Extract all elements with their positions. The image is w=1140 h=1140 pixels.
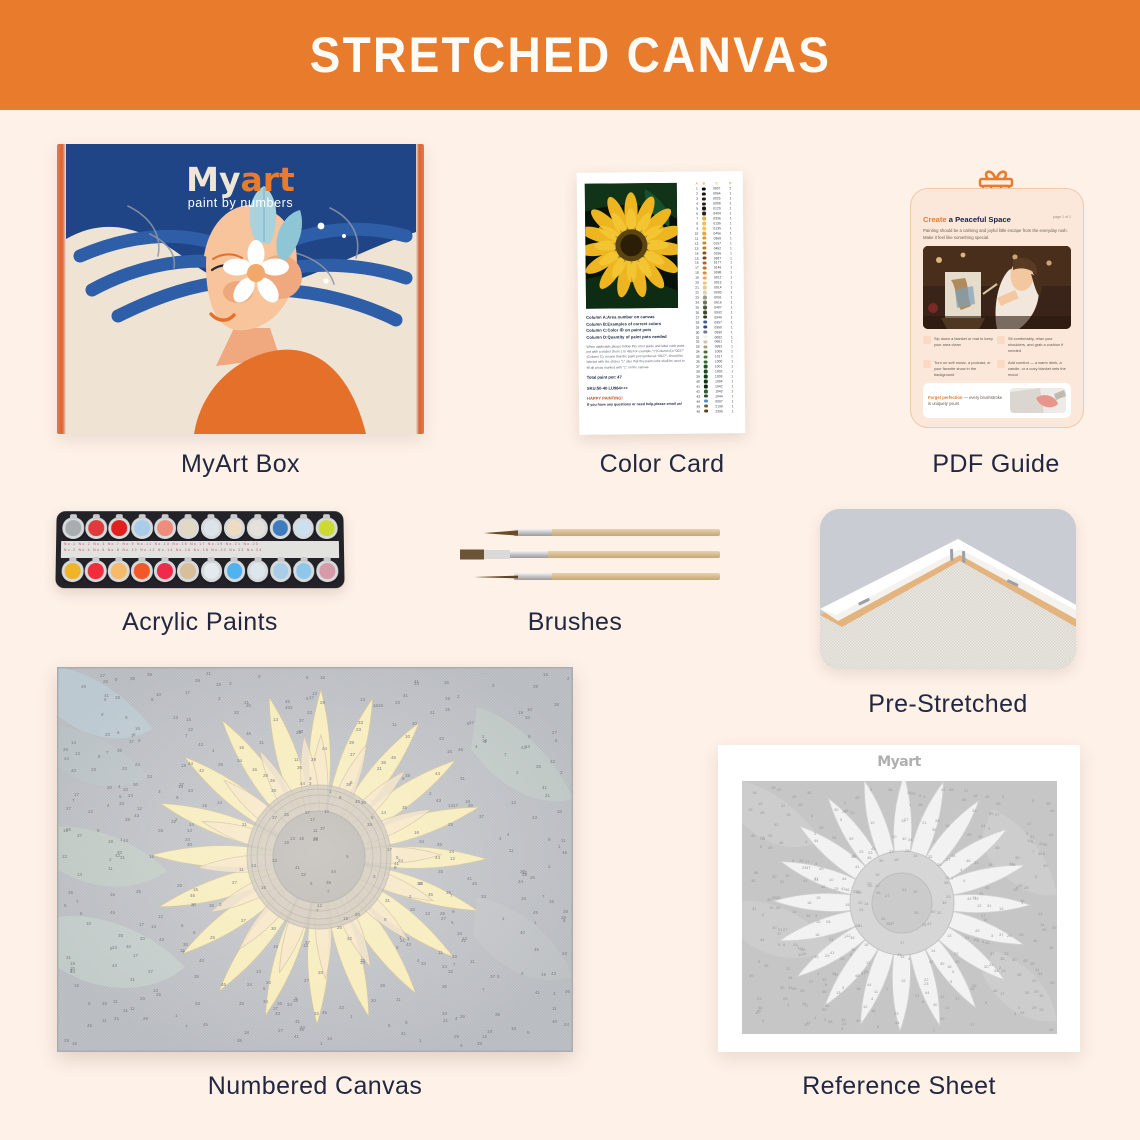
svg-text:46: 46 — [458, 747, 464, 752]
svg-text:37: 37 — [806, 865, 811, 870]
svg-text:29: 29 — [1043, 863, 1048, 868]
svg-text:20: 20 — [857, 890, 862, 895]
svg-text:29: 29 — [143, 1016, 149, 1021]
svg-text:17: 17 — [309, 695, 315, 700]
svg-text:35: 35 — [841, 1017, 846, 1022]
svg-text:19: 19 — [518, 710, 524, 715]
svg-text:46: 46 — [855, 973, 860, 978]
svg-text:25: 25 — [156, 992, 162, 997]
svg-text:39: 39 — [522, 872, 528, 877]
svg-text:35: 35 — [194, 974, 200, 979]
svg-text:38: 38 — [118, 933, 124, 938]
svg-text:19: 19 — [521, 896, 527, 901]
color-card-fineprint: When applicable,please follow this color… — [586, 343, 684, 371]
svg-text:34: 34 — [988, 862, 993, 867]
svg-text:11: 11 — [470, 959, 475, 964]
svg-text:17: 17 — [74, 792, 80, 797]
svg-text:41: 41 — [403, 693, 409, 698]
svg-text:38: 38 — [970, 986, 975, 991]
svg-text:23: 23 — [859, 849, 864, 854]
svg-text:23: 23 — [91, 767, 97, 772]
svg-text:39: 39 — [913, 889, 918, 894]
svg-text:16: 16 — [871, 1008, 876, 1013]
pdf-guide-tip: Sit comfortably, relax your shoulders, a… — [997, 336, 1071, 354]
svg-text:33: 33 — [439, 736, 445, 741]
svg-text:10: 10 — [405, 734, 411, 739]
svg-text:30: 30 — [468, 803, 474, 808]
svg-text:29: 29 — [64, 1038, 70, 1043]
svg-text:22: 22 — [307, 710, 313, 715]
svg-text:15: 15 — [186, 717, 192, 722]
svg-text:32: 32 — [301, 872, 307, 877]
svg-text:39: 39 — [850, 935, 855, 940]
svg-text:40: 40 — [1050, 808, 1055, 813]
svg-text:28: 28 — [828, 1019, 833, 1024]
svg-text:40: 40 — [1039, 841, 1044, 846]
svg-text:33: 33 — [481, 894, 487, 899]
svg-text:13: 13 — [290, 836, 296, 841]
svg-text:13: 13 — [273, 717, 279, 722]
tip-icon — [997, 360, 1005, 368]
svg-text:31: 31 — [460, 776, 466, 781]
svg-text:38: 38 — [237, 1038, 243, 1043]
svg-text:44: 44 — [842, 876, 847, 881]
svg-text:35: 35 — [779, 840, 784, 845]
svg-text:14: 14 — [151, 924, 157, 929]
svg-text:12: 12 — [317, 903, 323, 908]
brush-liner — [452, 573, 720, 580]
color-card-image: Column A:Area number on canvas Column B:… — [577, 171, 746, 435]
svg-text:43: 43 — [975, 928, 980, 933]
svg-text:23: 23 — [757, 996, 762, 1001]
myart-box-image: Myart paint by numbers — [57, 144, 424, 434]
paint-strip-labels-bottom: No.2 No.4 No.6 No.8 No.10 No.12 No.14 No… — [61, 547, 339, 553]
svg-text:39: 39 — [125, 817, 131, 822]
svg-text:46: 46 — [391, 755, 397, 760]
svg-text:44: 44 — [760, 937, 765, 942]
svg-text:18: 18 — [973, 793, 978, 798]
svg-text:27: 27 — [441, 916, 447, 921]
svg-text:26: 26 — [530, 875, 536, 880]
svg-text:36: 36 — [932, 827, 937, 832]
svg-text:35: 35 — [776, 905, 781, 910]
svg-text:45: 45 — [87, 1023, 93, 1028]
brushes-image — [430, 525, 720, 593]
svg-text:24: 24 — [802, 865, 807, 870]
svg-text:43: 43 — [406, 942, 412, 947]
pre-stretched-image — [820, 509, 1076, 669]
svg-text:44: 44 — [895, 1020, 900, 1025]
svg-text:25: 25 — [800, 988, 805, 993]
svg-text:28: 28 — [935, 818, 940, 823]
tip-text: Sit comfortably, relax your shoulders, a… — [1008, 336, 1067, 354]
svg-text:28: 28 — [102, 1001, 108, 1006]
svg-text:15: 15 — [543, 672, 549, 677]
svg-text:17: 17 — [970, 1022, 975, 1027]
svg-text:25: 25 — [284, 812, 290, 817]
svg-text:28: 28 — [1019, 932, 1024, 937]
svg-text:43: 43 — [159, 937, 165, 942]
svg-text:21: 21 — [443, 1018, 449, 1023]
svg-text:37: 37 — [479, 814, 485, 819]
svg-text:28: 28 — [216, 682, 222, 687]
pdf-guide-photo — [923, 246, 1071, 329]
svg-text:46: 46 — [876, 890, 881, 895]
svg-text:27: 27 — [148, 969, 154, 974]
svg-text:20: 20 — [978, 834, 983, 839]
reference-sheet-logo: Myart — [718, 745, 1080, 770]
svg-text:15: 15 — [840, 956, 845, 961]
svg-text:24: 24 — [832, 835, 837, 840]
svg-text:44: 44 — [925, 990, 930, 995]
paint-pot — [316, 560, 338, 582]
svg-text:26: 26 — [907, 790, 912, 795]
svg-text:20: 20 — [777, 787, 782, 792]
svg-text:10: 10 — [324, 809, 330, 814]
svg-text:29: 29 — [177, 883, 183, 888]
svg-text:25: 25 — [448, 822, 454, 827]
svg-text:28: 28 — [380, 983, 386, 988]
box-tagline: paint by numbers — [57, 196, 424, 210]
svg-text:17: 17 — [777, 931, 782, 936]
svg-text:15: 15 — [748, 807, 753, 812]
svg-text:19: 19 — [541, 972, 547, 977]
svg-text:16: 16 — [972, 895, 977, 900]
svg-text:16: 16 — [299, 1027, 305, 1032]
svg-text:11: 11 — [102, 1018, 107, 1023]
svg-text:21: 21 — [915, 993, 920, 998]
svg-text:11: 11 — [294, 757, 299, 762]
svg-text:24: 24 — [829, 937, 834, 942]
svg-text:19: 19 — [378, 703, 384, 708]
svg-text:13: 13 — [251, 863, 257, 868]
svg-text:37: 37 — [814, 876, 819, 881]
svg-text:32: 32 — [781, 803, 786, 808]
svg-text:28: 28 — [263, 773, 269, 778]
svg-text:19: 19 — [273, 944, 279, 949]
svg-text:33: 33 — [889, 849, 894, 854]
svg-text:41: 41 — [852, 853, 857, 858]
svg-text:27: 27 — [995, 812, 1000, 817]
svg-text:43: 43 — [436, 798, 442, 803]
svg-text:30: 30 — [183, 942, 189, 947]
svg-text:40: 40 — [412, 721, 418, 726]
svg-text:43: 43 — [198, 742, 204, 747]
svg-text:19: 19 — [487, 1029, 493, 1034]
svg-text:27: 27 — [232, 880, 238, 885]
svg-text:25: 25 — [772, 895, 777, 900]
svg-text:24: 24 — [859, 907, 864, 912]
svg-text:15: 15 — [74, 983, 80, 988]
tip-text: Sip down a blanket or mat to keep your a… — [934, 336, 993, 354]
pdf-page-number: page 1 of 1 — [1053, 215, 1071, 219]
svg-text:17: 17 — [453, 803, 459, 808]
svg-text:39: 39 — [1015, 855, 1020, 860]
svg-text:41: 41 — [803, 878, 808, 883]
svg-text:41: 41 — [294, 1034, 300, 1039]
svg-text:16: 16 — [320, 675, 326, 680]
paint-pot — [85, 517, 107, 538]
svg-text:26: 26 — [460, 1014, 466, 1019]
svg-text:16: 16 — [802, 951, 807, 956]
paint-pot — [154, 560, 176, 582]
svg-text:39: 39 — [147, 672, 153, 677]
tip-icon — [923, 360, 931, 368]
svg-text:20: 20 — [842, 809, 847, 814]
svg-text:16: 16 — [894, 857, 899, 862]
svg-text:24: 24 — [442, 964, 448, 969]
svg-text:23: 23 — [356, 727, 362, 732]
svg-text:15: 15 — [875, 872, 880, 877]
box-logo: Myart paint by numbers — [57, 160, 424, 210]
svg-text:16: 16 — [239, 745, 245, 750]
svg-text:20: 20 — [246, 703, 252, 708]
column-d-desc: Column D:Quantity of paint pots needed — [586, 334, 684, 342]
svg-text:45: 45 — [110, 910, 116, 915]
svg-text:33: 33 — [195, 1001, 201, 1006]
svg-text:19: 19 — [445, 696, 451, 701]
svg-text:41: 41 — [841, 886, 846, 891]
svg-text:14: 14 — [931, 948, 936, 953]
svg-text:14: 14 — [360, 960, 366, 965]
svg-text:28: 28 — [771, 785, 776, 790]
svg-text:46: 46 — [190, 893, 196, 898]
svg-text:23: 23 — [414, 681, 420, 686]
svg-text:24: 24 — [518, 879, 524, 884]
label-acrylic-paints: Acrylic Paints — [56, 608, 344, 637]
svg-text:41: 41 — [788, 985, 793, 990]
svg-text:42: 42 — [550, 759, 556, 764]
svg-text:30: 30 — [187, 842, 193, 847]
svg-text:35: 35 — [402, 805, 408, 810]
svg-text:17: 17 — [469, 720, 475, 725]
svg-text:45: 45 — [760, 810, 765, 815]
paint-pot — [154, 517, 176, 538]
svg-text:16: 16 — [856, 986, 861, 991]
svg-text:25: 25 — [210, 935, 216, 940]
svg-text:22: 22 — [88, 809, 94, 814]
tip-icon — [997, 336, 1005, 344]
svg-text:26: 26 — [313, 837, 319, 842]
svg-text:12: 12 — [511, 800, 517, 805]
svg-text:39: 39 — [563, 909, 569, 914]
svg-text:18: 18 — [244, 1030, 250, 1035]
svg-text:20: 20 — [318, 970, 324, 975]
svg-text:38: 38 — [405, 773, 411, 778]
svg-text:13: 13 — [425, 911, 431, 916]
svg-text:43: 43 — [927, 921, 932, 926]
svg-text:46: 46 — [285, 705, 291, 710]
svg-text:12: 12 — [977, 903, 982, 908]
svg-text:28: 28 — [320, 700, 326, 705]
svg-text:44: 44 — [322, 746, 328, 751]
svg-text:30: 30 — [772, 925, 777, 930]
label-color-card: Color Card — [540, 450, 784, 479]
svg-text:41: 41 — [104, 693, 110, 698]
paint-pot — [247, 560, 269, 582]
svg-text:38: 38 — [554, 702, 560, 707]
svg-text:31: 31 — [259, 740, 265, 745]
paint-pot — [108, 560, 130, 582]
svg-text:30: 30 — [772, 874, 777, 879]
svg-text:14: 14 — [792, 909, 797, 914]
svg-text:32: 32 — [347, 936, 353, 941]
svg-text:40: 40 — [71, 768, 77, 773]
sku-text: SKU:50-40 LU964+++ — [587, 385, 685, 393]
svg-text:40: 40 — [856, 1018, 861, 1023]
svg-text:30: 30 — [751, 878, 756, 883]
svg-text:22: 22 — [858, 900, 863, 905]
svg-text:46: 46 — [867, 855, 872, 860]
svg-text:35: 35 — [536, 764, 542, 769]
svg-text:45: 45 — [949, 787, 954, 792]
svg-text:34: 34 — [908, 837, 913, 842]
svg-text:40: 40 — [520, 930, 526, 935]
svg-text:35: 35 — [942, 900, 947, 905]
svg-text:44: 44 — [814, 838, 819, 843]
svg-text:43: 43 — [112, 963, 118, 968]
paint-pot — [61, 560, 83, 582]
svg-text:44: 44 — [300, 781, 306, 786]
pdf-footer-accent: Forget perfection — [928, 395, 962, 400]
svg-text:12: 12 — [158, 914, 164, 919]
svg-text:13: 13 — [173, 715, 179, 720]
svg-text:17: 17 — [133, 953, 139, 958]
svg-text:38: 38 — [944, 880, 949, 885]
label-brushes: Brushes — [430, 608, 720, 637]
svg-text:26: 26 — [1007, 933, 1012, 938]
svg-text:37: 37 — [990, 951, 995, 956]
svg-text:14: 14 — [761, 836, 766, 841]
paint-pot — [293, 517, 315, 538]
svg-text:36: 36 — [297, 765, 303, 770]
svg-text:25: 25 — [799, 858, 804, 863]
svg-text:46: 46 — [246, 731, 252, 736]
pdf-title-accent: Create — [923, 215, 947, 224]
svg-text:42: 42 — [929, 959, 934, 964]
svg-text:45: 45 — [768, 845, 773, 850]
svg-text:36: 36 — [845, 887, 850, 892]
svg-text:46: 46 — [751, 833, 756, 838]
svg-text:35: 35 — [989, 811, 994, 816]
svg-text:38: 38 — [326, 880, 332, 885]
svg-text:11: 11 — [552, 1006, 557, 1011]
svg-text:12: 12 — [866, 960, 871, 965]
svg-text:39: 39 — [940, 1016, 945, 1021]
svg-text:41: 41 — [830, 950, 835, 955]
paint-pot — [177, 560, 199, 582]
svg-text:30: 30 — [834, 807, 839, 812]
contact-text: If you have any questions or need help,p… — [587, 402, 685, 407]
color-card-table-row: 4623951 — [691, 408, 739, 413]
paint-pot — [108, 517, 130, 538]
reference-sheet-image: Myart — [718, 745, 1080, 1052]
svg-text:44: 44 — [981, 823, 986, 828]
svg-text:17: 17 — [1000, 991, 1005, 996]
svg-text:37: 37 — [77, 833, 83, 838]
svg-text:44: 44 — [951, 853, 956, 858]
svg-text:28: 28 — [1020, 1010, 1025, 1015]
svg-text:27: 27 — [552, 730, 558, 735]
svg-text:38: 38 — [995, 845, 1000, 850]
svg-text:31: 31 — [858, 923, 863, 928]
numbered-canvas-image: 6242836238945442681181711113511330213913… — [57, 667, 573, 1052]
svg-text:26: 26 — [209, 903, 215, 908]
svg-text:15: 15 — [63, 828, 69, 833]
svg-text:13: 13 — [525, 744, 531, 749]
svg-text:15: 15 — [764, 963, 769, 968]
svg-text:33: 33 — [525, 715, 531, 720]
svg-text:29: 29 — [454, 1034, 460, 1039]
svg-text:45: 45 — [428, 892, 434, 897]
pdf-guide-tips: Sip down a blanket or mat to keep your a… — [923, 336, 1071, 383]
svg-text:27: 27 — [66, 806, 72, 811]
svg-text:11: 11 — [239, 867, 244, 872]
svg-text:17: 17 — [900, 940, 905, 945]
svg-text:25: 25 — [853, 889, 858, 894]
svg-text:15: 15 — [180, 948, 186, 953]
svg-text:25: 25 — [780, 985, 785, 990]
svg-text:28: 28 — [967, 832, 972, 837]
svg-text:35: 35 — [130, 676, 136, 681]
svg-text:15: 15 — [900, 954, 905, 959]
svg-text:22: 22 — [339, 1005, 345, 1010]
svg-text:33: 33 — [358, 720, 364, 725]
svg-text:14: 14 — [448, 803, 454, 808]
svg-text:29: 29 — [768, 833, 773, 838]
svg-text:12: 12 — [875, 883, 880, 888]
sunflower-photo — [585, 183, 678, 309]
svg-text:44: 44 — [758, 1005, 763, 1010]
logo-art-text: art — [241, 160, 295, 199]
svg-text:11: 11 — [113, 999, 118, 1004]
svg-text:41: 41 — [401, 1031, 407, 1036]
svg-text:14: 14 — [945, 1005, 950, 1010]
svg-text:10: 10 — [156, 692, 162, 697]
svg-text:36: 36 — [1049, 945, 1054, 950]
svg-text:25: 25 — [1024, 885, 1029, 890]
svg-text:11: 11 — [108, 866, 113, 871]
svg-text:29: 29 — [825, 953, 830, 958]
svg-text:28: 28 — [277, 1001, 283, 1006]
svg-text:10: 10 — [755, 1010, 760, 1015]
paint-pot — [201, 517, 222, 538]
svg-text:31: 31 — [385, 898, 391, 903]
svg-text:37: 37 — [305, 940, 311, 945]
brush-flat — [430, 551, 720, 558]
brush-tip-round — [484, 530, 518, 536]
svg-text:13: 13 — [256, 969, 262, 974]
svg-text:27: 27 — [885, 893, 890, 898]
svg-text:11: 11 — [561, 838, 566, 843]
color-card-text: Column A:Area number on canvas Column B:… — [586, 314, 685, 407]
svg-text:30: 30 — [271, 926, 277, 931]
svg-text:43: 43 — [134, 813, 140, 818]
svg-text:17: 17 — [964, 788, 969, 793]
svg-text:16: 16 — [135, 726, 141, 731]
svg-text:44: 44 — [979, 891, 984, 896]
svg-text:14: 14 — [864, 901, 869, 906]
svg-text:12: 12 — [863, 1004, 868, 1009]
svg-text:21: 21 — [545, 793, 551, 798]
svg-text:27: 27 — [305, 810, 311, 815]
svg-text:43: 43 — [551, 971, 557, 976]
svg-text:30: 30 — [807, 790, 812, 795]
svg-text:15: 15 — [202, 803, 208, 808]
svg-text:45: 45 — [533, 910, 539, 915]
svg-text:31: 31 — [123, 1008, 129, 1013]
svg-text:11: 11 — [396, 997, 401, 1002]
